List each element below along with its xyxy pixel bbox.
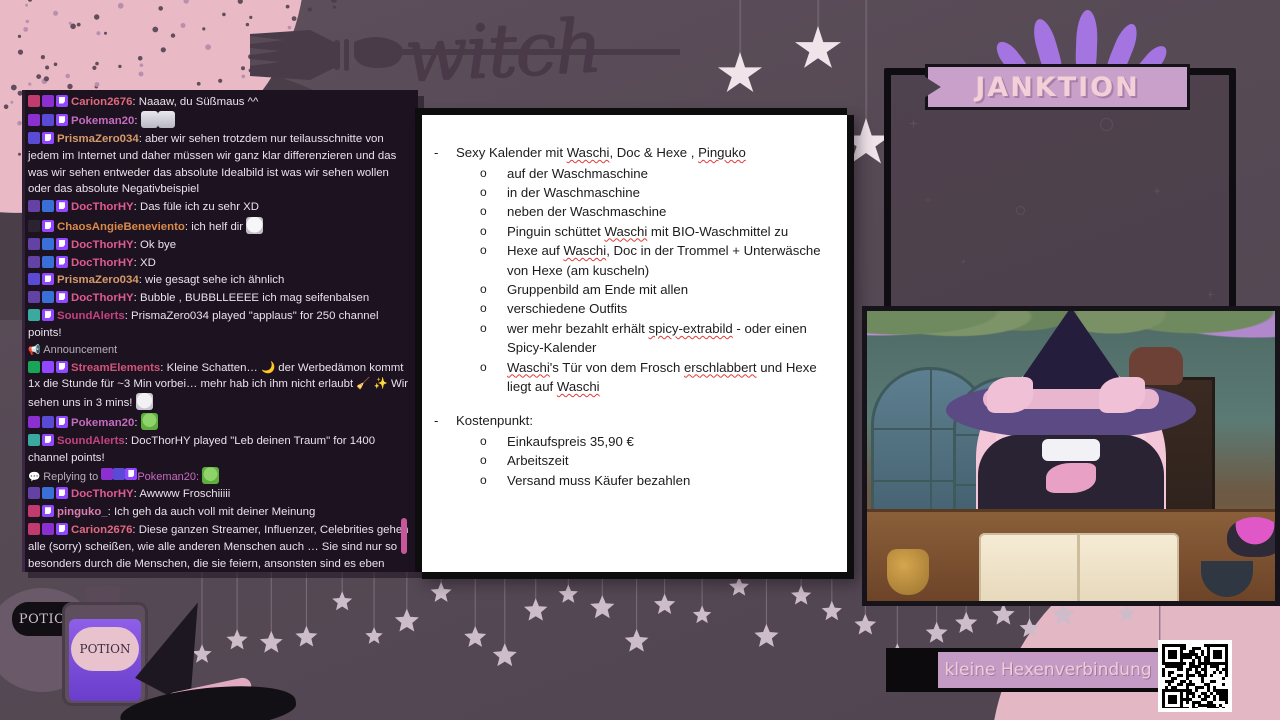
badge-row bbox=[28, 291, 68, 303]
notes-sub-text: Einkaufspreis 35,90 € bbox=[507, 434, 634, 449]
chat-username[interactable]: PrismaZero034 bbox=[57, 274, 139, 286]
dia-badge-icon bbox=[42, 416, 54, 428]
notes-sub-text: verschiedene Outfits bbox=[507, 301, 627, 316]
emote-icon bbox=[141, 111, 158, 128]
notes-sub-text: Arbeitszeit bbox=[507, 453, 569, 468]
dia-badge-icon bbox=[113, 468, 125, 480]
bot-badge-icon bbox=[28, 434, 40, 446]
glitch-badge-icon bbox=[28, 523, 40, 535]
badge-row bbox=[28, 200, 68, 212]
webcam-avatar[interactable] bbox=[862, 306, 1280, 606]
gift-badge-icon bbox=[42, 256, 54, 268]
prime-badge-icon bbox=[28, 238, 40, 250]
prime-badge-icon bbox=[28, 200, 40, 212]
notes-sub-text-wrap: Hexe auf Waschi, Doc in der Trommel + Un… bbox=[507, 241, 833, 280]
notes-sub-text-wrap: auf der Waschmaschine bbox=[507, 164, 833, 183]
badge-row bbox=[28, 220, 54, 232]
misspelled-word: erschlabbert bbox=[684, 360, 757, 375]
skull-badge-icon bbox=[28, 220, 40, 232]
reply-bubble-icon: 💬 bbox=[28, 472, 43, 483]
chat-username[interactable]: ChaosAngieBeneviento bbox=[57, 221, 185, 233]
emote-icon bbox=[141, 413, 158, 430]
chat-username[interactable]: Carion2676 bbox=[71, 524, 132, 536]
misspelled-word: Waschi bbox=[507, 360, 550, 375]
avatar-bow-right bbox=[1099, 377, 1145, 413]
notes-sub-text-wrap: Pinguin schüttet Waschi mit BIO-Waschmit… bbox=[507, 222, 833, 241]
chat-message[interactable]: SoundAlerts: PrismaZero034 played "appla… bbox=[28, 308, 412, 343]
twitch-badge-icon bbox=[56, 487, 68, 499]
ring-bullet-icon: o bbox=[480, 432, 507, 451]
notes-sub-item: oin der Waschmaschine bbox=[434, 183, 833, 202]
open-book bbox=[979, 533, 1179, 603]
check-badge-icon bbox=[28, 361, 40, 373]
stream-overlay: witch POTION POTION Carion2676: Naaaw, d… bbox=[0, 0, 1280, 720]
badge-row bbox=[28, 256, 68, 268]
notes-sub-text-wrap: Einkaufspreis 35,90 € bbox=[507, 432, 833, 451]
chat-message-text: : Ich geh da auch voll mit deiner Meinun… bbox=[108, 506, 316, 518]
notes-sub-text: Gruppenbild am Ende mit allen bbox=[507, 282, 688, 297]
misspelled-word: spicy-extrabild bbox=[648, 321, 732, 336]
notes-sub-item: oEinkaufspreis 35,90 € bbox=[434, 432, 833, 451]
twitch-badge-icon bbox=[56, 523, 68, 535]
ring-bullet-icon: o bbox=[480, 451, 507, 470]
badge-row bbox=[28, 273, 54, 285]
chat-message[interactable]: Carion2676: Naaaw, du Süßmaus ^^ bbox=[28, 93, 412, 111]
chat-message-text: : Ok bye bbox=[134, 239, 176, 251]
chat-reply-header: 💬 Replying to Pokeman20: bbox=[28, 467, 412, 486]
chat-message[interactable]: SoundAlerts: DocThorHY played "Leb deine… bbox=[28, 432, 412, 467]
witch-hat-icon bbox=[130, 604, 310, 720]
badge-row bbox=[28, 114, 68, 126]
dia-badge-icon bbox=[42, 114, 54, 126]
chat-message[interactable]: StreamElements: Kleine Schatten… 🌙 der W… bbox=[28, 359, 412, 412]
chat-message-text: : ich helf dir bbox=[185, 221, 246, 233]
twitch-badge-icon bbox=[42, 220, 54, 232]
badge-row bbox=[28, 95, 68, 107]
ring-bullet-icon: o bbox=[480, 164, 507, 183]
chat-message[interactable]: Pokeman20: bbox=[28, 111, 412, 131]
badge-row bbox=[28, 361, 68, 373]
notes-sub-text-wrap: verschiedene Outfits bbox=[507, 299, 833, 318]
twitch-badge-icon bbox=[56, 291, 68, 303]
avatar-collar bbox=[1042, 439, 1100, 461]
notes-sub-item: oneben der Waschmaschine bbox=[434, 202, 833, 221]
ring-bullet-icon: o bbox=[480, 241, 507, 280]
twitch-badge-icon bbox=[42, 505, 54, 517]
gift-badge-icon bbox=[42, 200, 54, 212]
notes-heading-text: Kostenpunkt: bbox=[456, 411, 533, 432]
twitch-badge-icon bbox=[56, 200, 68, 212]
twitch-badge-icon bbox=[56, 256, 68, 268]
dash-bullet-icon: - bbox=[434, 411, 456, 432]
emote-icon bbox=[136, 393, 153, 410]
notes-sub-text: Versand muss Käufer bezahlen bbox=[507, 473, 690, 488]
notes-sub-item: ower mehr bezahlt erhält spicy-extrabild… bbox=[434, 319, 833, 358]
chat-message-list[interactable]: Carion2676: Naaaw, du Süßmaus ^^Pokeman2… bbox=[22, 90, 418, 572]
notes-sub-text-wrap: Waschi's Tür von dem Frosch erschlabbert… bbox=[507, 358, 833, 397]
glitch-badge-icon bbox=[28, 505, 40, 517]
chat-username[interactable]: SoundAlerts bbox=[57, 310, 125, 322]
ring-bullet-icon: o bbox=[480, 202, 507, 221]
notes-sub-text: Waschi's Tür von dem Frosch erschlabbert… bbox=[507, 360, 817, 394]
notes-sub-text-wrap: in der Waschmaschine bbox=[507, 183, 833, 202]
notes-sub-item: oVersand muss Käufer bezahlen bbox=[434, 471, 833, 490]
chat-username[interactable]: pinguko_ bbox=[57, 506, 108, 518]
chat-message[interactable]: DocThorHY: Ok bye bbox=[28, 236, 412, 254]
link-bar[interactable]: kleine Hexenverbindung bbox=[938, 652, 1158, 688]
notes-sub-item: oPinguin schüttet Waschi mit BIO-Waschmi… bbox=[434, 222, 833, 241]
twitch-badge-icon bbox=[125, 468, 137, 480]
badge-row bbox=[101, 471, 137, 483]
emote-icon bbox=[246, 217, 263, 234]
avatar-ribbon bbox=[1046, 463, 1096, 493]
paragraph-gap bbox=[434, 396, 833, 411]
chat-username[interactable]: DocThorHY bbox=[71, 201, 134, 213]
oil-lamp bbox=[887, 549, 929, 595]
chat-message-text: : Awwww Froschiiiii bbox=[134, 488, 231, 500]
gift-badge-icon bbox=[42, 291, 54, 303]
star-badge-icon bbox=[28, 114, 40, 126]
avatar-bow-left bbox=[987, 377, 1033, 413]
announcement-label: Announcement bbox=[43, 344, 117, 356]
sub-badge-icon bbox=[42, 361, 54, 373]
badge-row bbox=[28, 132, 54, 144]
notes-sub-text: auf der Waschmaschine bbox=[507, 166, 648, 181]
twitch-badge-icon bbox=[56, 114, 68, 126]
chat-username[interactable]: DocThorHY bbox=[71, 257, 134, 269]
chat-message[interactable]: PrismaZero034: aber wir sehen trotzdem n… bbox=[28, 131, 412, 199]
notes-sub-text-wrap: wer mehr bezahlt erhält spicy-extrabild … bbox=[507, 319, 833, 358]
chat-message-text: : XD bbox=[134, 257, 156, 269]
chat-message[interactable]: Pokeman20: bbox=[28, 413, 412, 433]
notes-heading-item: -Sexy Kalender mit Waschi, Doc & Hexe , … bbox=[434, 143, 833, 164]
ring-bullet-icon: o bbox=[480, 222, 507, 241]
dia-badge-icon bbox=[28, 273, 40, 285]
chat-username[interactable]: Pokeman20 bbox=[71, 115, 134, 127]
chat-message[interactable]: DocThorHY: Das füle ich zu sehr XD bbox=[28, 199, 412, 217]
ring-bullet-icon: o bbox=[480, 299, 507, 318]
twitch-badge-icon bbox=[42, 273, 54, 285]
witch-script-text: witch bbox=[402, 3, 602, 99]
chat-scrollbar[interactable] bbox=[401, 518, 407, 554]
reply-prefix: Replying to bbox=[43, 471, 101, 483]
ring-bullet-icon: o bbox=[480, 319, 507, 358]
notes-sub-item: oWaschi's Tür von dem Frosch erschlabber… bbox=[434, 358, 833, 397]
prime-badge-icon bbox=[28, 487, 40, 499]
bot-badge-icon bbox=[28, 309, 40, 321]
twitch-badge-icon bbox=[56, 361, 68, 373]
janktion-banner: JANKTION bbox=[925, 64, 1190, 110]
chat-username[interactable]: PrismaZero034 bbox=[57, 133, 139, 145]
chat-panel[interactable]: Carion2676: Naaaw, du Süßmaus ^^Pokeman2… bbox=[22, 90, 418, 572]
badge-row bbox=[28, 523, 68, 535]
prime-badge-icon bbox=[28, 291, 40, 303]
notes-sub-text-wrap: Gruppenbild am Ende mit allen bbox=[507, 280, 833, 299]
notes-sub-text: in der Waschmaschine bbox=[507, 185, 640, 200]
chat-message-text: : bbox=[134, 115, 140, 127]
misspelled-word: Waschi bbox=[605, 224, 648, 239]
chat-message-text: : bbox=[134, 417, 140, 429]
badge-row bbox=[28, 487, 68, 499]
chat-message[interactable]: pinguko_: Ich geh da auch voll mit deine… bbox=[28, 504, 412, 522]
chat-message[interactable]: DocThorHY: Bubble , BUBBLLEEEE ich mag s… bbox=[28, 290, 412, 308]
emote-icon bbox=[202, 467, 219, 484]
chat-message-text: : Das füle ich zu sehr XD bbox=[134, 201, 259, 213]
notes-sub-item: overschiedene Outfits bbox=[434, 299, 833, 318]
chat-username[interactable]: DocThorHY bbox=[71, 488, 134, 500]
chat-username[interactable]: DocThorHY bbox=[71, 292, 134, 304]
star-badge-icon bbox=[42, 523, 54, 535]
gift-badge-icon bbox=[42, 238, 54, 250]
badge-row bbox=[28, 416, 68, 428]
star-badge-icon bbox=[28, 416, 40, 428]
chat-announcement-header: 📢 Announcement bbox=[28, 342, 412, 359]
notes-sub-text: Pinguin schüttet Waschi mit BIO-Waschmit… bbox=[507, 224, 788, 239]
chat-message-text: : wie gesagt sehe ich ähnlich bbox=[139, 274, 285, 286]
chat-message-text: : Naaaw, du Süßmaus ^^ bbox=[132, 96, 258, 108]
badge-row bbox=[28, 238, 68, 250]
notes-heading-text: Sexy Kalender mit Waschi, Doc & Hexe , P… bbox=[456, 143, 746, 164]
notes-sub-text: neben der Waschmaschine bbox=[507, 204, 666, 219]
notes-sub-text-wrap: Versand muss Käufer bezahlen bbox=[507, 471, 833, 490]
chat-message[interactable]: ChaosAngieBeneviento: ich helf dir bbox=[28, 217, 412, 237]
badge-row bbox=[28, 309, 54, 321]
twitch-badge-icon bbox=[56, 95, 68, 107]
chat-message[interactable]: DocThorHY: XD bbox=[28, 254, 412, 272]
dash-bullet-icon: - bbox=[434, 143, 456, 164]
star-badge-icon bbox=[42, 95, 54, 107]
twitch-badge-icon bbox=[56, 238, 68, 250]
ring-bullet-icon: o bbox=[480, 471, 507, 490]
badge-row bbox=[28, 505, 54, 517]
notes-sub-text: wer mehr bezahlt erhält spicy-extrabild … bbox=[507, 321, 807, 355]
ring-bullet-icon: o bbox=[480, 183, 507, 202]
notes-sub-text: Hexe auf Waschi, Doc in der Trommel + Un… bbox=[507, 243, 821, 277]
twitch-badge-icon bbox=[42, 309, 54, 321]
glitch-badge-icon bbox=[28, 95, 40, 107]
emote-icon bbox=[158, 111, 175, 128]
banner-title: JANKTION bbox=[975, 72, 1139, 103]
notes-heading-item: -Kostenpunkt: bbox=[434, 411, 833, 432]
gift-badge-icon bbox=[42, 487, 54, 499]
twitch-badge-icon bbox=[56, 416, 68, 428]
chat-left-accent bbox=[22, 90, 25, 572]
notes-sub-text-wrap: Arbeitszeit bbox=[507, 451, 833, 470]
chat-message[interactable]: PrismaZero034: wie gesagt sehe ich ähnli… bbox=[28, 272, 412, 290]
notes-sub-item: oHexe auf Waschi, Doc in der Trommel + U… bbox=[434, 241, 833, 280]
potion-label-square: POTION bbox=[71, 627, 139, 671]
twitch-badge-icon bbox=[42, 434, 54, 446]
chat-username[interactable]: Pokeman20 bbox=[71, 417, 134, 429]
ring-bullet-icon: o bbox=[480, 358, 507, 397]
qr-code[interactable] bbox=[1158, 640, 1232, 712]
notes-sub-item: oGruppenbild am Ende mit allen bbox=[434, 280, 833, 299]
dia-badge-icon bbox=[28, 132, 40, 144]
misspelled-word: Waschi bbox=[567, 145, 610, 160]
chat-username[interactable]: SoundAlerts bbox=[57, 435, 125, 447]
megaphone-icon: 📢 bbox=[28, 345, 43, 356]
star-badge-icon bbox=[101, 468, 113, 480]
chat-message[interactable]: DocThorHY: Awwww Froschiiiii bbox=[28, 486, 412, 504]
notes-sub-item: oArbeitszeit bbox=[434, 451, 833, 470]
ring-bullet-icon: o bbox=[480, 280, 507, 299]
notes-document[interactable]: -Sexy Kalender mit Waschi, Doc & Hexe , … bbox=[415, 108, 847, 572]
chat-username[interactable]: StreamElements bbox=[71, 362, 160, 374]
cauldron bbox=[1227, 517, 1280, 557]
prime-badge-icon bbox=[28, 256, 40, 268]
misspelled-word: Waschi bbox=[557, 379, 600, 394]
chat-message[interactable]: Carion2676: Diese ganzen Streamer, Influ… bbox=[28, 522, 412, 572]
misspelled-word: Pinguko bbox=[698, 145, 746, 160]
misspelled-word: Waschi bbox=[563, 243, 606, 258]
chat-username[interactable]: Carion2676 bbox=[71, 96, 132, 108]
notes-sub-item: oauf der Waschmaschine bbox=[434, 164, 833, 183]
chat-username[interactable]: DocThorHY bbox=[71, 239, 134, 251]
badge-row bbox=[28, 434, 54, 446]
notes-content: -Sexy Kalender mit Waschi, Doc & Hexe , … bbox=[422, 115, 847, 490]
twitch-badge-icon bbox=[42, 132, 54, 144]
reply-target-username[interactable]: Pokeman20: bbox=[137, 471, 202, 483]
chat-message-text: : Bubble , BUBBLLEEEE ich mag seifenbals… bbox=[134, 292, 370, 304]
notes-sub-text-wrap: neben der Waschmaschine bbox=[507, 202, 833, 221]
link-bar-label: kleine Hexenverbindung bbox=[944, 660, 1151, 680]
